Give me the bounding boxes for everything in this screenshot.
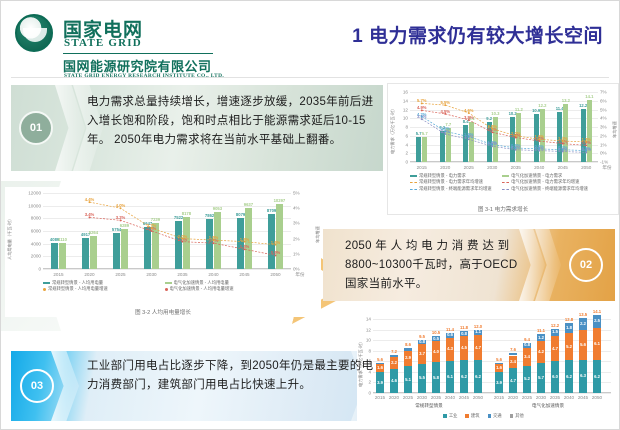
y-axis-tick: 2 (405, 151, 408, 156)
growth-rate-lines (410, 92, 598, 162)
x-axis-tick: 2020 (433, 165, 457, 170)
x-axis-tick: 2050 (574, 165, 598, 170)
y-axis-tick: 8000 (31, 216, 41, 221)
figure-3-3-sector-electricity-demand: 0246810121420152020202520302035204020452… (357, 313, 617, 427)
segment-value-label: 6.1 (594, 341, 600, 346)
legend-swatch (410, 189, 417, 190)
y2-axis-tick: 4% (293, 206, 300, 211)
header-divider (11, 77, 609, 78)
segment-value-label: 1.8 (566, 325, 572, 330)
y-axis-tick: 14 (366, 317, 371, 322)
y-axis-tick: 10 (366, 338, 371, 343)
chart-legend: 常规转型情景 - 电力需求电气化加速情景 - 电力需求常规转型情景 - 电力需求… (410, 173, 598, 192)
y-axis-tick: 8 (405, 125, 408, 130)
logo-subtitle-en: STATE GRID ENERGY RESEARCH INSTITUTE CO.… (64, 73, 224, 79)
slide-canvas: 国家电网 STATE GRID 国网能源研究院有限公司 STATE GRID E… (0, 0, 620, 430)
stack-total-label: 11.4 (446, 327, 454, 332)
x-axis-tick: 2030 (140, 272, 164, 277)
segment-value-label: 6.2 (461, 374, 467, 379)
y-axis-tick: 6 (405, 133, 408, 138)
x-axis-tick: 2015 (47, 272, 71, 277)
segment-value-label: 3.7 (419, 351, 425, 356)
segment-value-label: 6.0 (552, 374, 558, 379)
segment-value-label: 1.2 (538, 335, 544, 340)
y2-axis-title: 年均增速 (315, 226, 321, 243)
gridline (410, 162, 598, 163)
x-axis-tick: 2030 (480, 165, 504, 170)
segment-value-label: 4.0 (433, 349, 439, 354)
x-axis-label: 年份 (292, 272, 308, 278)
x-axis-tick: 2045 (233, 272, 257, 277)
group-label: 电气化加速情景 (518, 403, 578, 409)
state-grid-logo: 国家电网 STATE GRID 国网能源研究院有限公司 STATE GRID E… (15, 11, 315, 73)
plot-area: 3.91.65.64.62.27.25.12.98.65.53.70.89.55… (373, 319, 611, 393)
segment-value-label: 3.4 (524, 354, 530, 359)
x-axis-tick: 2035 (504, 165, 528, 170)
legend-label: 电气化加速情景 - 终端能源需求年均增速 (511, 186, 588, 192)
segment-value-label: 4.7 (510, 378, 516, 383)
segment-value-label: 6.2 (475, 374, 481, 379)
segment-value-label: 0.8 (461, 331, 467, 336)
legend-swatch (502, 189, 509, 190)
y2-axis-tick: 3% (293, 221, 300, 226)
y-axis-tick: 12 (403, 107, 408, 112)
legend-swatch (165, 288, 168, 291)
y-axis-tick: 10 (403, 116, 408, 121)
y2-axis-tick: 4% (600, 116, 607, 121)
segment-value-label: 6.2 (594, 374, 600, 379)
chart-caption: 图 3-1 电力需求增长 (388, 205, 618, 213)
segment-value-label: 2.9 (405, 355, 411, 360)
slide-title: 1 电力需求仍有较大增长空间 (352, 21, 603, 48)
stack-total-label: 9.5 (419, 334, 425, 339)
segment-value-label: 1.5 (552, 329, 558, 334)
segment-value-label: 4.5 (461, 345, 467, 350)
legend-swatch (410, 175, 417, 177)
segment-value-label: 3.9 (496, 380, 502, 385)
segment-value-label: 6.1 (447, 374, 453, 379)
legend-label: 交通 (493, 413, 502, 419)
plot-area: 5.75.77.27.78.49.19.210.310.211.210.912.… (410, 92, 598, 162)
segment-value-label: 2.4 (510, 359, 516, 364)
legend-swatch (510, 414, 514, 418)
legend-swatch (43, 282, 50, 284)
stack-total-label: 9.4 (524, 337, 530, 342)
stacked-segment (390, 355, 399, 357)
segment-value-label: 6.2 (566, 374, 572, 379)
legend-swatch (502, 182, 509, 183)
x-axis-tick: 2025 (457, 165, 481, 170)
segment-value-label: 0.5 (433, 336, 439, 341)
stack-total-label: 7.6 (510, 347, 516, 352)
growth-rate-lines (43, 193, 291, 269)
stack-total-label: 11.1 (537, 328, 545, 333)
legend-swatch (443, 414, 447, 418)
y-axis-tick: 12000 (28, 191, 41, 196)
y-axis-title: 人均用电量（千瓦·时） (7, 217, 13, 260)
gridline (373, 319, 611, 320)
segment-value-label: 1.6 (496, 365, 502, 370)
callout-03-text: 工业部门用电占比逐步下降，到2050年仍是最主要的电力消费部门，建筑部门用电占比… (87, 357, 381, 395)
segment-value-label: 5.2 (524, 376, 530, 381)
stacked-segment (495, 363, 504, 364)
legend-label: 工业 (449, 413, 458, 419)
segment-value-label: 5.1 (405, 377, 411, 382)
y-axis-tick: 4000 (31, 241, 41, 246)
callout-01: 01 电力需求总量持续增长，增速逐步放缓，2035年前后进入增长饱和阶段，饱和时… (11, 85, 383, 171)
stacked-segment (509, 353, 518, 356)
x-axis-tick: 2035 (171, 272, 195, 277)
legend-item: 交通 (488, 413, 502, 419)
legend-item: 其他 (510, 413, 524, 419)
y2-axis-tick: 1% (600, 142, 607, 147)
chart-caption: 图 3-2 人均用电量增长 (5, 308, 321, 316)
y-axis-tick: 6000 (31, 229, 41, 234)
stacked-segment (404, 348, 413, 351)
stack-total-label: 8.6 (405, 342, 411, 347)
x-axis-tick: 2015 (410, 165, 434, 170)
segment-value-label: 4.2 (538, 349, 544, 354)
y2-axis-tick: 6% (600, 98, 607, 103)
legend-swatch (165, 282, 172, 284)
segment-value-label: 5.7 (538, 375, 544, 380)
x-axis-tick: 2040 (202, 272, 226, 277)
callout-02-line2: 8800~10300千瓦时，高于OECD (345, 256, 563, 275)
segment-value-label: 4.6 (391, 378, 397, 383)
y2-axis-tick: 7% (600, 90, 607, 95)
y-axis-tick: 10000 (28, 203, 41, 208)
y2-axis-tick: 5% (600, 107, 607, 112)
callout-01-text: 电力需求总量持续增长，增速逐步放缓，2035年前后进入增长饱和阶段，饱和时点相比… (87, 93, 375, 150)
y2-axis-tick: 3% (600, 125, 607, 130)
legend-label: 建筑 (471, 413, 480, 419)
stack-total-label: 12.0 (474, 324, 482, 329)
y-axis-tick: 2000 (31, 254, 41, 259)
callout-02-line3: 国家当前水平。 (345, 275, 563, 294)
plot-area: 4089411049175264575462896647723975228178… (43, 193, 291, 269)
y-axis-tick: 0 (405, 160, 408, 165)
logo-divider (63, 53, 213, 54)
y2-axis-tick: 2% (293, 236, 300, 241)
stack-total-label: 11.8 (460, 325, 468, 330)
callout-01-number: 01 (19, 111, 53, 145)
y-axis-tick: 4 (405, 142, 408, 147)
x-axis-tick: 2050 (264, 272, 288, 277)
legend-swatch (410, 182, 417, 183)
x-axis-tick: 2045 (551, 165, 575, 170)
legend-item: 工业 (443, 413, 457, 419)
legend-label: 常规转型情景 - 终端能源需求年均增速 (419, 186, 492, 192)
segment-value-label: 6.3 (580, 373, 586, 378)
legend-item: 电气化加速情景 - 人均用电量增速 (165, 286, 287, 292)
legend-item: 电气化加速情景 - 终端能源需求年均增速 (502, 186, 594, 192)
segment-value-label: 5.8 (433, 375, 439, 380)
callout-02-line1: 2050 年 人 均 电 力 消 费 达 到 (345, 237, 563, 256)
x-axis-tick: 2050 (468, 395, 488, 400)
y-axis-tick: 16 (403, 90, 408, 95)
x-axis-label: 年份 (599, 165, 615, 171)
y2-axis-tick: -1% (600, 160, 608, 165)
segment-value-label: 4.7 (552, 346, 558, 351)
callout-02-number: 02 (569, 248, 603, 282)
y2-axis-tick: 1% (293, 251, 300, 256)
y-axis-tick: 0 (38, 267, 41, 272)
stack-total-label: 5.6 (496, 357, 502, 362)
segment-value-label: 4.3 (447, 346, 453, 351)
legend-swatch (502, 175, 509, 177)
legend-label: 电气化加速情景 - 人均用电量增速 (170, 286, 234, 292)
y-axis-tick: 8 (368, 348, 371, 353)
y2-axis-tick: 0% (293, 267, 300, 272)
chart-legend: 常规转型情景 - 人均用电量电气化加速情景 - 人均用电量常规转型情景 - 人均… (43, 280, 291, 293)
segment-value-label: 5.2 (566, 344, 572, 349)
stack-total-label: 14.1 (593, 309, 601, 314)
legend-label: 其他 (515, 413, 524, 419)
figure-3-1-electricity-demand-growth: 0246810121416-1%0%1%2%3%4%5%6%7%20152020… (387, 83, 619, 215)
segment-value-label: 5.5 (419, 375, 425, 380)
segment-value-label: 1.1 (475, 329, 481, 334)
stack-total-label: 13.5 (579, 312, 587, 317)
callout-03-number: 03 (20, 369, 54, 403)
y-axis-tick: 14 (403, 98, 408, 103)
legend-item: 常规转型情景 - 终端能源需求年均增速 (410, 186, 502, 192)
y2-axis-title: 年均增速 (612, 121, 618, 138)
legend-swatch (488, 414, 492, 418)
segment-value-label: 4.7 (475, 345, 481, 350)
callout-02: 02 2050 年 人 均 电 力 消 费 达 到 8800~10300千瓦时，… (323, 229, 615, 301)
x-axis-tick: 2025 (109, 272, 133, 277)
y2-axis-tick: 2% (600, 133, 607, 138)
segment-value-label: 0.8 (419, 339, 425, 344)
callout-03: 03 工业部门用电占比逐步下降，到2050年仍是最主要的电力消费部门，建筑部门用… (11, 351, 391, 421)
y2-axis-tick: 5% (293, 191, 300, 196)
stack-total-label: 12.8 (565, 317, 573, 322)
segment-value-label: 2.2 (580, 321, 586, 326)
gridline (373, 393, 611, 394)
segment-value-label: 2.2 (391, 360, 397, 365)
stack-total-label: 10.5 (432, 330, 440, 335)
segment-value-label: 0.6 (447, 332, 453, 337)
chart-legend: 工业建筑交通其他 (357, 413, 617, 419)
logo-title-en: STATE GRID (64, 37, 142, 49)
group-label: 常规转型情景 (399, 403, 459, 409)
legend-item: 建筑 (465, 413, 479, 419)
callout-02-text: 2050 年 人 均 电 力 消 费 达 到 8800~10300千瓦时，高于O… (345, 237, 563, 294)
x-axis-tick: 2050 (587, 395, 607, 400)
legend-label: 常规转型情景 - 人均用电量增速 (48, 286, 108, 292)
segment-value-label: 2.5 (594, 318, 600, 323)
gridline (43, 269, 291, 270)
state-grid-emblem-icon (15, 14, 53, 52)
x-axis-tick: 2020 (78, 272, 102, 277)
stack-total-label: 12.2 (551, 323, 559, 328)
legend-item: 常规转型情景 - 人均用电量增速 (43, 286, 165, 292)
y-axis-tick: 12 (366, 327, 371, 332)
segment-value-label: 5.6 (580, 342, 586, 347)
gridline (373, 330, 611, 331)
segment-value-label: 0.8 (524, 342, 530, 347)
figure-3-2-per-capita-electricity-growth: 0200040006000800010000120000%1%2%3%4%5%2… (5, 187, 321, 317)
y-axis-title: 电力需求（万亿千瓦·时） (390, 106, 396, 153)
y2-axis-tick: 0% (600, 151, 607, 156)
x-axis-tick: 2040 (527, 165, 551, 170)
legend-swatch (465, 414, 469, 418)
stack-total-label: 7.2 (391, 349, 397, 354)
legend-swatch (43, 288, 46, 291)
